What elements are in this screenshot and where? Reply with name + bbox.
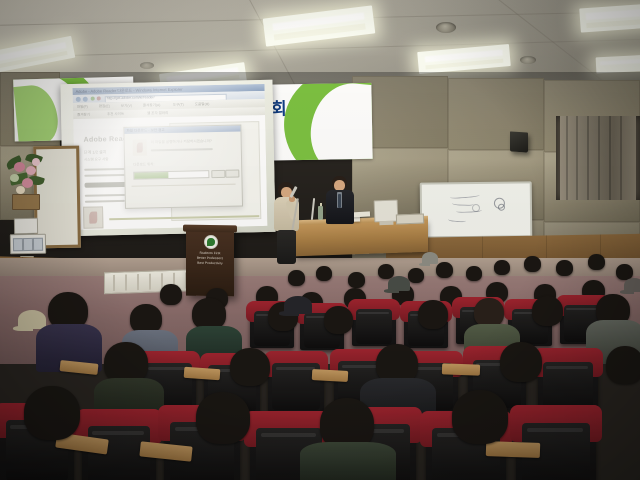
seat-armrest — [486, 441, 540, 458]
wall-control-panel-lower[interactable] — [10, 234, 46, 255]
audience-head — [556, 260, 573, 276]
audience-cap — [624, 278, 640, 292]
pdf-document-icon — [83, 206, 103, 228]
flower-arrangement — [4, 148, 48, 212]
dialog-title-text: 파일 다운로드 - 보안 경고 — [126, 127, 164, 134]
auditorium-seat[interactable] — [352, 302, 396, 346]
university-leaf-logo — [204, 235, 218, 249]
wall-speaker-icon — [510, 131, 528, 152]
audience-head — [288, 270, 305, 286]
ceiling-light — [579, 3, 640, 32]
audience-head — [500, 342, 542, 382]
favorites-webslice[interactable]: 웹 조각 갤러리 — [147, 111, 168, 115]
favorites-suggested[interactable]: 추천 사이트 — [107, 112, 124, 116]
laptop — [396, 214, 424, 225]
window-recess — [556, 116, 640, 200]
audience-head — [160, 284, 182, 305]
menu-edit[interactable]: 편집(E) — [99, 105, 110, 109]
ceiling-speaker-icon — [520, 56, 536, 64]
audience-head — [436, 262, 453, 278]
audience-head — [452, 390, 508, 444]
audience-head — [524, 256, 541, 272]
page-line-2: 시스템 요구 사항 — [84, 158, 109, 162]
download-dialog: 파일 다운로드 - 보안 경고 이 파일을 실행하거나 저장하시겠습니까? 다운… — [123, 124, 243, 208]
menu-file[interactable]: 파일(F) — [77, 105, 88, 109]
ceiling-light — [596, 55, 640, 74]
dialog-title-bar: 파일 다운로드 - 보안 경고 — [124, 125, 240, 133]
audience-cap — [18, 310, 46, 329]
audience-cap — [388, 276, 410, 291]
podium-top — [183, 225, 237, 233]
audience-head — [324, 306, 353, 334]
dialog-pdf-icon — [133, 139, 147, 155]
ceiling-speaker-icon — [140, 62, 154, 69]
menu-tools[interactable]: 도구(T) — [173, 103, 184, 107]
audience-head — [606, 346, 640, 384]
audience-head — [196, 392, 250, 444]
dialog-cancel-button[interactable] — [225, 170, 239, 178]
favorites-label[interactable]: 즐겨찾기 — [77, 113, 90, 117]
audience-head — [474, 298, 504, 327]
audience-head — [316, 266, 332, 281]
presenter-moderator — [322, 176, 358, 230]
audience-head — [24, 386, 80, 440]
head-table — [296, 220, 428, 257]
auditorium-photo: 2 일시 술대회 한국전자정보 Adobe - Adobe Reader 다운로… — [0, 0, 640, 480]
audience-head — [588, 254, 605, 270]
ceiling-speaker-icon — [436, 22, 456, 33]
audience-cap — [422, 252, 438, 264]
page-line-1: 단계 1/2 설치 — [84, 150, 107, 154]
audience-head — [532, 296, 563, 326]
menu-help[interactable]: 도움말(H) — [195, 103, 210, 107]
audience-cap — [284, 296, 312, 314]
audience-seating — [0, 258, 640, 480]
audience-head — [230, 348, 270, 386]
moderator-tie — [338, 194, 341, 208]
dialog-field-label: 다운로드 위치: — [133, 163, 154, 167]
download-progress-bar — [133, 170, 209, 180]
auditorium-seat[interactable] — [268, 354, 324, 412]
audience-body — [300, 442, 396, 480]
window-curtain — [560, 116, 636, 200]
projection-surface: Adobe - Adobe Reader 다운로드 - Windows Inte… — [60, 80, 275, 236]
table-monitor — [374, 200, 399, 223]
wall-control-panel-upper[interactable] — [14, 218, 38, 234]
flower-basket — [12, 194, 40, 210]
seat-armrest — [442, 363, 480, 375]
seat-armrest — [312, 369, 349, 382]
audience-head — [494, 260, 510, 275]
dialog-run-button[interactable] — [211, 170, 225, 178]
projection-screen: Adobe - Adobe Reader 다운로드 - Windows Inte… — [60, 80, 275, 236]
menu-favorites[interactable]: 즐겨찾기(A) — [143, 104, 161, 108]
menu-view[interactable]: 보기(V) — [121, 104, 132, 108]
whiteboard — [420, 181, 533, 238]
audience-head — [408, 268, 424, 283]
audience-head — [418, 300, 448, 329]
presenter-speaker — [266, 182, 306, 266]
audience-head — [466, 266, 482, 281]
dialog-message: 이 파일을 실행하거나 저장하시겠습니까? — [151, 140, 212, 145]
audience-head — [348, 272, 365, 288]
